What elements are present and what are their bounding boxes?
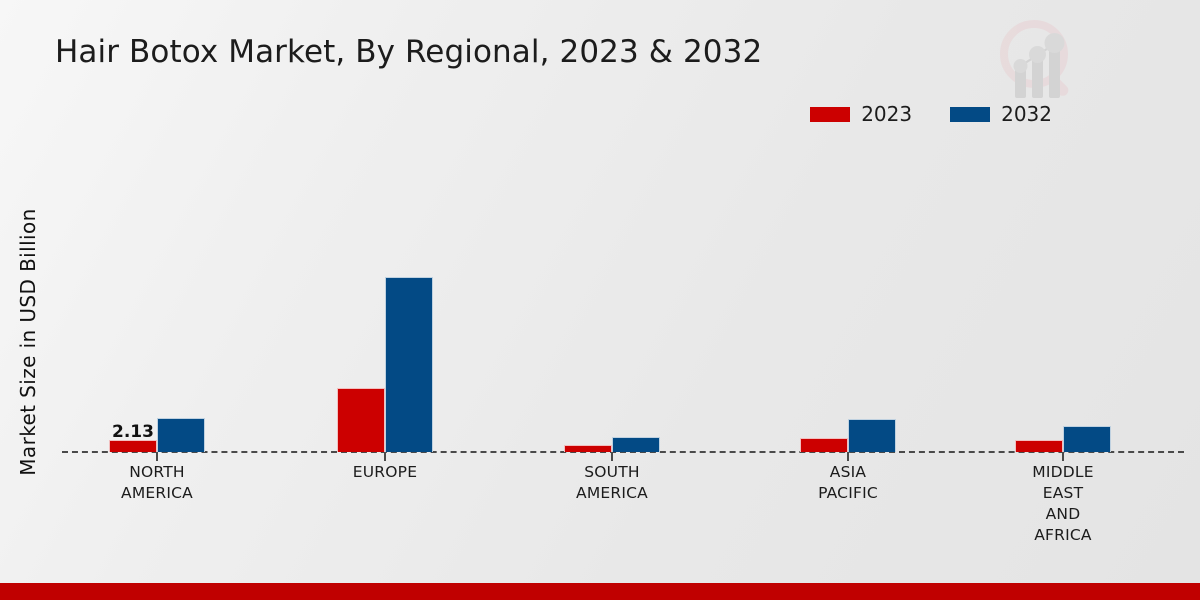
x-tick-south-america <box>611 452 613 461</box>
bar-group-asia-pacific: ASIA PACIFIC <box>748 150 948 452</box>
x-label-line: EAST <box>963 483 1163 504</box>
bar-middle-east-and-africa-2032[interactable] <box>1063 426 1111 452</box>
x-label-line: EUROPE <box>285 462 485 483</box>
bar-europe-2032[interactable] <box>385 277 433 452</box>
x-label-line: SOUTH <box>512 462 712 483</box>
bar-group-middle-east-and-africa: MIDDLE EAST AND AFRICA <box>963 150 1163 452</box>
x-label-asia-pacific: ASIA PACIFIC <box>748 462 948 504</box>
x-label-line: NORTH <box>57 462 257 483</box>
bar-asia-pacific-2023[interactable] <box>800 438 848 452</box>
x-label-line: MIDDLE <box>963 462 1163 483</box>
footer-accent-bar <box>0 583 1200 600</box>
bar-north-america-2023[interactable] <box>109 440 157 452</box>
bar-europe-2023[interactable] <box>337 388 385 452</box>
x-tick-north-america <box>156 452 158 461</box>
x-label-line: AMERICA <box>57 483 257 504</box>
bar-group-south-america: SOUTH AMERICA <box>512 150 712 452</box>
plot-area: 2.13 NORTH AMERICA EUROPE <box>0 0 1200 600</box>
x-label-north-america: NORTH AMERICA <box>57 462 257 504</box>
bar-group-europe: EUROPE <box>285 150 485 452</box>
bar-asia-pacific-2032[interactable] <box>848 419 896 452</box>
x-label-europe: EUROPE <box>285 462 485 483</box>
bar-north-america-2032[interactable] <box>157 418 205 452</box>
chart-container: Hair Botox Market, By Regional, 2023 & 2… <box>0 0 1200 600</box>
bar-middle-east-and-africa-2023[interactable] <box>1015 440 1063 452</box>
x-label-line: ASIA <box>748 462 948 483</box>
x-label-middle-east-and-africa: MIDDLE EAST AND AFRICA <box>963 462 1163 546</box>
x-label-line: AMERICA <box>512 483 712 504</box>
x-label-line: PACIFIC <box>748 483 948 504</box>
x-label-line: AND <box>963 504 1163 525</box>
bar-south-america-2032[interactable] <box>612 437 660 452</box>
x-tick-asia-pacific <box>847 452 849 461</box>
x-tick-europe <box>384 452 386 461</box>
bar-south-america-2023[interactable] <box>564 445 612 452</box>
bar-group-north-america: 2.13 NORTH AMERICA <box>57 150 257 452</box>
x-label-line: AFRICA <box>963 525 1163 546</box>
x-label-south-america: SOUTH AMERICA <box>512 462 712 504</box>
x-tick-middle-east-and-africa <box>1062 452 1064 461</box>
